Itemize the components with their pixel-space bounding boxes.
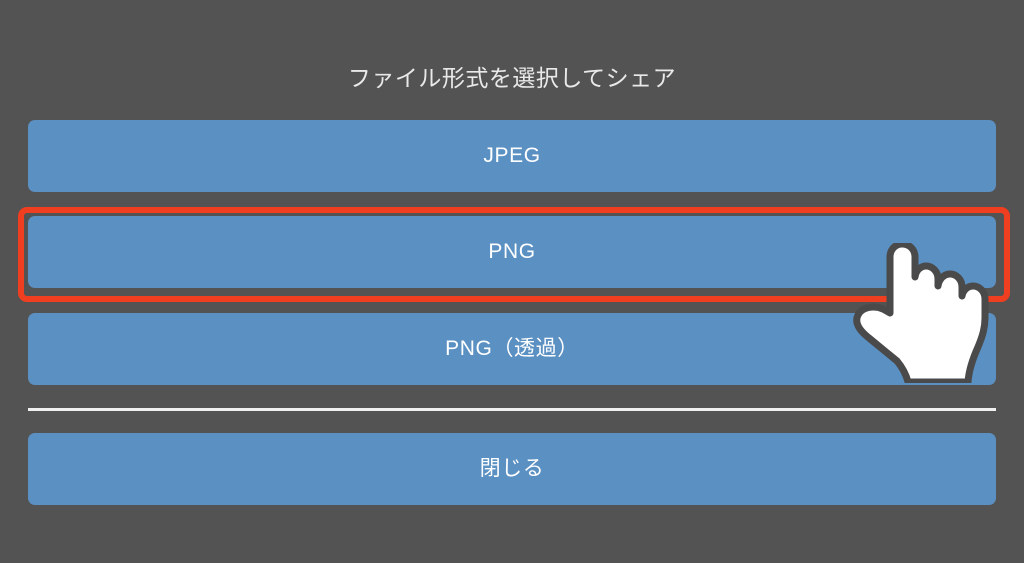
share-option-png-label: PNG [488,241,535,262]
share-option-png-transparent-button[interactable]: PNG（透過） [28,313,996,385]
share-option-png-transparent-label: PNG（透過） [445,338,579,359]
share-format-action-sheet: ファイル形式を選択してシェア JPEG PNG PNG（透過） 閉じる [0,0,1024,563]
divider [28,408,996,411]
page-title: ファイル形式を選択してシェア [0,62,1024,94]
close-button[interactable]: 閉じる [28,433,996,505]
share-option-jpeg-label: JPEG [483,145,540,166]
close-button-label: 閉じる [480,458,545,479]
share-option-jpeg-button[interactable]: JPEG [28,120,996,192]
share-option-png-button[interactable]: PNG [28,216,996,288]
